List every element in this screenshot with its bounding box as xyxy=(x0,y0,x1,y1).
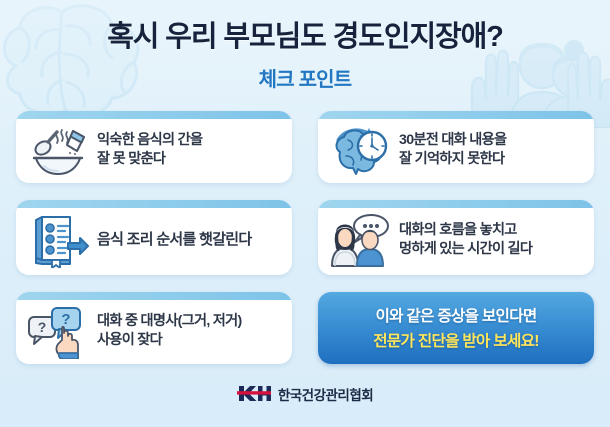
cta-line-1: 이와 같은 증상을 보인다면 xyxy=(375,304,536,326)
checklist-card-3[interactable]: 음식 조리 순서를 햇갈린다 xyxy=(16,200,292,275)
checklist-card-1-text: 익숙한 음식의 간을 잘 못 맞춘다 xyxy=(97,131,202,169)
header: 혹시 우리 부모님도 경도인지장애? 체크 포인트 xyxy=(0,0,610,92)
svg-text:?: ? xyxy=(61,311,70,328)
checklist-card-4-text: 대화의 호름을 놓치고 멍하게 있는 시간이 길다 xyxy=(399,221,532,259)
page-title: 혹시 우리 부모님도 경도인지장애? xyxy=(0,22,610,54)
checklist-card-3-text: 음식 조리 순서를 햇갈린다 xyxy=(97,230,252,250)
question-bubbles-hand-icon: ? ? xyxy=(26,303,90,359)
brain-clock-icon xyxy=(328,122,392,178)
two-people-thought-bubble-icon xyxy=(328,212,392,268)
organization-name: 한국건강관리협회 xyxy=(278,384,373,404)
checklist-grid: 익숙한 음식의 간을 잘 못 맞춘다 xyxy=(16,111,594,364)
svg-text:?: ? xyxy=(38,319,47,335)
checklist-card-4[interactable]: 대화의 호름을 놓치고 멍하게 있는 시간이 길다 xyxy=(318,200,594,275)
recipe-book-arrow-icon xyxy=(26,212,90,268)
kh-logo-icon xyxy=(237,384,271,403)
cta-line-2: 전문가 진단을 받아 보세요! xyxy=(373,329,539,351)
checklist-card-2-text: 30분전 대화 내용을 잘 기억하지 못한다 xyxy=(399,131,506,169)
cta-banner[interactable]: 이와 같은 증상을 보인다면 전문가 진단을 받아 보세요! xyxy=(318,292,594,364)
checklist-card-5[interactable]: ? ? 대화 중 대명사(그거, 저거) 사용이 잦다 xyxy=(16,292,292,364)
bowl-spoon-salt-icon xyxy=(26,122,90,178)
checklist-card-2[interactable]: 30분전 대화 내용을 잘 기억하지 못한다 xyxy=(318,111,594,183)
checklist-card-1[interactable]: 익숙한 음식의 간을 잘 못 맞춘다 xyxy=(16,111,292,183)
page-subtitle: 체크 포인트 xyxy=(0,63,610,92)
checklist-card-5-text: 대화 중 대명사(그거, 저거) 사용이 잦다 xyxy=(97,312,242,350)
footer: 한국건강관리협회 xyxy=(0,384,610,404)
